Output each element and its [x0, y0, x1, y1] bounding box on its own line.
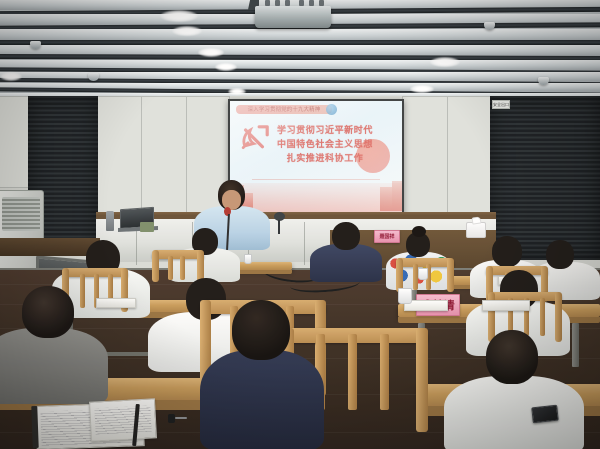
plant-icon: [140, 222, 154, 232]
exit-sign: 安全出口: [492, 100, 510, 109]
paper-cup-icon: [244, 254, 252, 264]
person-attendee-6b: [200, 300, 324, 449]
thermos-icon: [106, 211, 114, 231]
conference-room-photo: 安全出口 深入学习贯彻党的十九大精神 学习贯彻习近平新时代 中国特色社会主义思想…: [0, 0, 600, 449]
ceiling-light-icon: [172, 26, 202, 36]
wall-panel: [96, 96, 142, 218]
document-page-icon: [89, 398, 157, 441]
paper-cup-icon: [398, 288, 412, 304]
ceiling: [0, 0, 600, 104]
ceiling-light-icon: [198, 48, 224, 57]
person-attendee-5: [310, 222, 382, 280]
ceiling-light-icon: [410, 85, 434, 93]
tissue-sheet-icon: [472, 216, 482, 224]
person-attendee-10: [444, 330, 584, 449]
ceiling-light-icon: [430, 57, 460, 67]
ceiling-light-icon: [228, 88, 246, 95]
smartphone-icon[interactable]: [531, 405, 559, 424]
wall-panel: [402, 96, 448, 218]
wall-panel: [447, 96, 491, 218]
car-keys-icon: [168, 412, 192, 424]
projector-icon: [255, 0, 331, 28]
wall-panel: [0, 96, 29, 188]
ceiling-light-icon: [215, 63, 237, 71]
person-attendee-1: [0, 286, 108, 402]
ceiling-light-icon: [0, 72, 22, 81]
microphone-stand-icon: [270, 212, 288, 234]
ceiling-light-icon: [160, 10, 198, 22]
wall-panel: [141, 96, 187, 218]
notebook-icon: [482, 300, 530, 311]
paper-cup-icon: [418, 268, 428, 280]
